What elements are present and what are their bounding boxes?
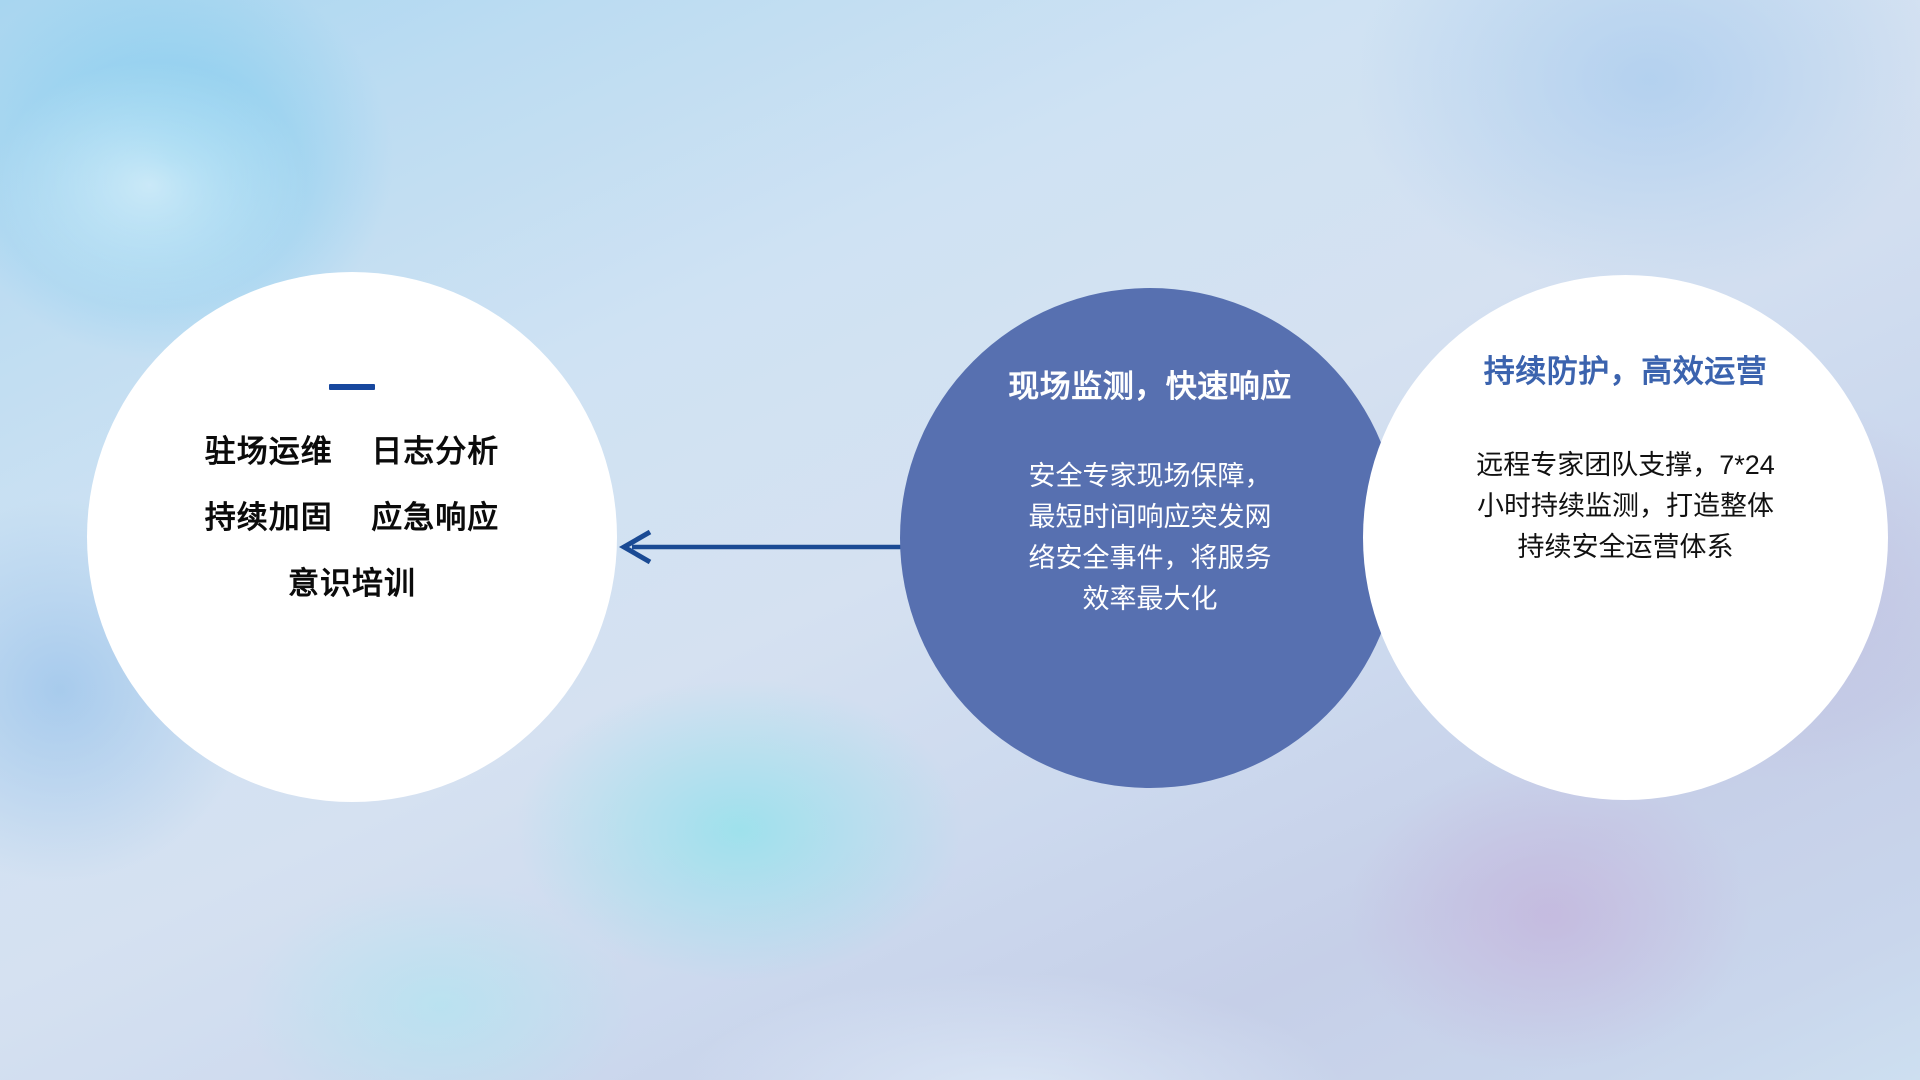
continuous-protection-body-line: 小时持续监测，打造整体	[1421, 486, 1831, 527]
onsite-monitoring-circle[interactable]: 现场监测，快速响应 安全专家现场保障， 最短时间响应突发网 络安全事件，将服务 …	[900, 288, 1400, 788]
capability-line-1: 驻场运维 日志分析	[205, 436, 499, 467]
continuous-protection-body: 远程专家团队支撑，7*24 小时持续监测，打造整体 持续安全运营体系	[1421, 445, 1831, 568]
capabilities-circle[interactable]: 驻场运维 日志分析 持续加固 应急响应 意识培训	[87, 272, 617, 802]
divider-dash-icon	[329, 384, 375, 390]
continuous-protection-body-line: 持续安全运营体系	[1421, 527, 1831, 568]
onsite-monitoring-body-line: 安全专家现场保障，	[981, 456, 1319, 497]
background-blob-white-bottom	[560, 930, 1460, 1080]
onsite-monitoring-body-line: 效率最大化	[981, 579, 1319, 620]
onsite-monitoring-body: 安全专家现场保障， 最短时间响应突发网 络安全事件，将服务 效率最大化	[981, 456, 1319, 620]
onsite-monitoring-body-line: 最短时间响应突发网	[981, 497, 1319, 538]
background-blob-cyan-low	[180, 840, 700, 1080]
continuous-protection-heading: 持续防护，高效运营	[1484, 355, 1768, 389]
slide-canvas: 驻场运维 日志分析 持续加固 应急响应 意识培训 现场监测，快速响应 安全专家现…	[0, 0, 1920, 1080]
continuous-protection-circle[interactable]: 持续防护，高效运营 远程专家团队支撑，7*24 小时持续监测，打造整体 持续安全…	[1363, 275, 1888, 800]
onsite-monitoring-body-line: 络安全事件，将服务	[981, 538, 1319, 579]
continuous-protection-body-line: 远程专家团队支撑，7*24	[1421, 445, 1831, 486]
capability-line-2: 持续加固 应急响应	[205, 502, 499, 533]
onsite-monitoring-heading: 现场监测，快速响应	[1008, 370, 1292, 404]
capability-line-3: 意识培训	[288, 568, 416, 599]
left-pointing-arrow-icon	[600, 515, 920, 579]
